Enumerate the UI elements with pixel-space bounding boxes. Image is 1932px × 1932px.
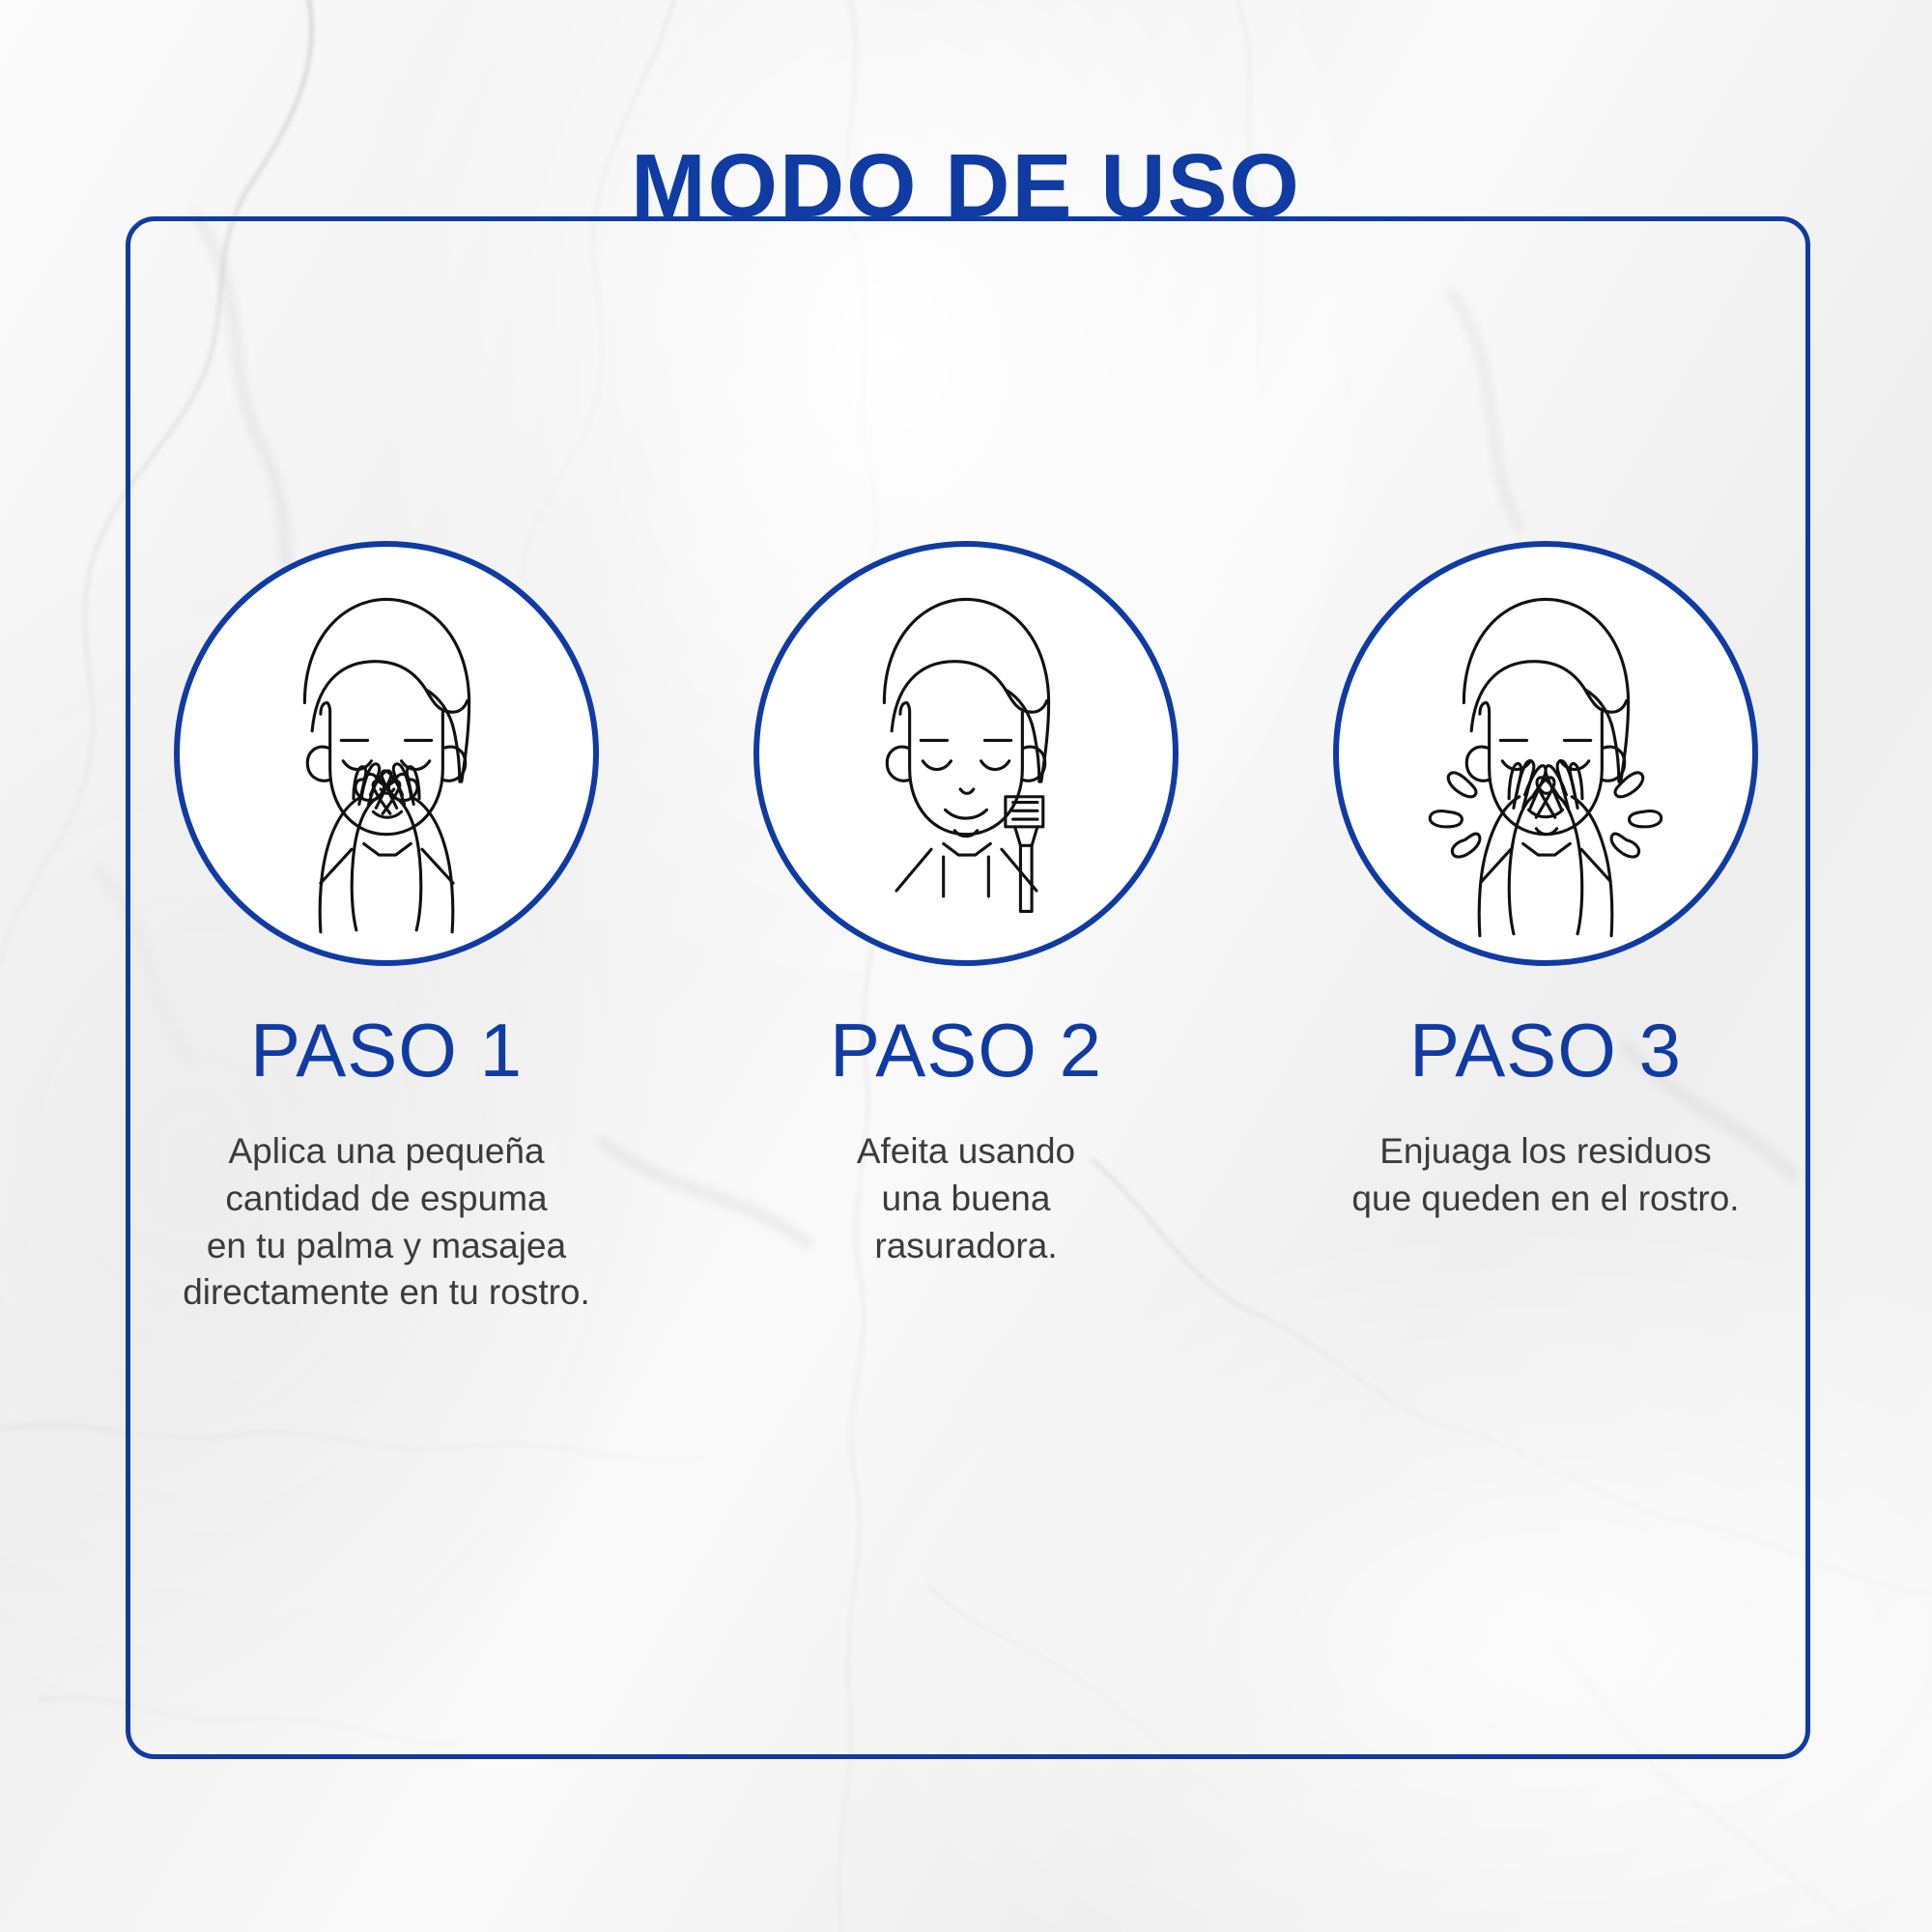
face-shaving-razor-icon — [759, 541, 1173, 966]
step-3-label: PASO 3 — [1409, 1012, 1682, 1088]
step-1-description: Aplica una pequeña cantidad de espuma en… — [116, 1128, 657, 1317]
step-2-label: PASO 2 — [830, 1012, 1102, 1088]
steps-container: PASO 1 Aplica una pequeña cantidad de es… — [145, 541, 1787, 1317]
step-2-description: Afeita usando una buena rasuradora. — [773, 1128, 1159, 1269]
step-item-2: PASO 2 Afeita usando una buena rasurador… — [724, 541, 1207, 1269]
step-3-description: Enjuaga los residuos que queden en el ro… — [1294, 1128, 1797, 1223]
face-wash-foam-icon — [180, 541, 593, 966]
step-1-label: PASO 1 — [250, 1012, 523, 1088]
page-title: MODO DE USO — [0, 141, 1932, 231]
face-rinse-water-icon — [1339, 541, 1752, 966]
step-2-illustration-circle — [753, 541, 1179, 966]
step-item-3: PASO 3 Enjuaga los residuos que queden e… — [1304, 541, 1787, 1223]
step-3-illustration-circle — [1333, 541, 1758, 966]
step-item-1: PASO 1 Aplica una pequeña cantidad de es… — [145, 541, 628, 1317]
step-1-illustration-circle — [174, 541, 599, 966]
